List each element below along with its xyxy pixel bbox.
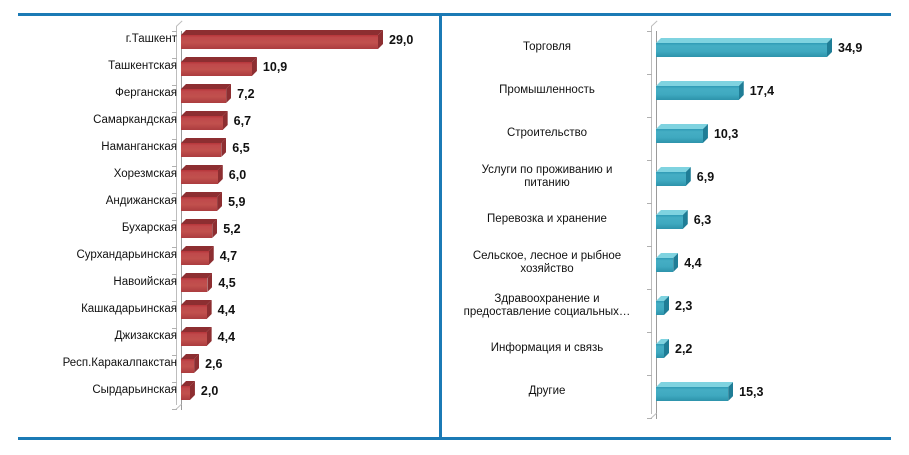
bar-body — [656, 215, 688, 229]
bar-3d[interactable] — [181, 30, 383, 49]
bar-3d[interactable] — [181, 111, 228, 130]
bar-3d[interactable] — [181, 381, 195, 400]
bar-value-label: 4,4 — [684, 256, 701, 270]
bar-chart-row: Сырдарьинская2,0 — [0, 377, 439, 404]
bar-chart-row: г.Ташкент29,0 — [0, 26, 439, 53]
bar-chart-sectors: Торговля34,9Промышленность17,4Строительс… — [442, 16, 909, 436]
bar-value-label: 2,3 — [675, 299, 692, 313]
axis-tick — [172, 409, 177, 410]
bar-body — [181, 35, 383, 49]
bar-chart-row: Перевозка и хранение6,3 — [442, 198, 909, 241]
category-label: Сырдарьинская — [0, 384, 177, 397]
bar-chart-row: Сельское, лесное и рыбное хозяйство4,4 — [442, 241, 909, 284]
bar-value-label: 4,4 — [218, 330, 235, 344]
bar-3d[interactable] — [181, 57, 257, 76]
category-label: Кашкадарьинская — [0, 303, 177, 316]
bar-body — [181, 305, 212, 319]
category-label: Другие — [442, 385, 652, 398]
category-label: г.Ташкент — [0, 33, 177, 46]
bar-front-face — [181, 386, 190, 400]
bar-value-label: 10,3 — [714, 127, 738, 141]
bar-body — [181, 386, 195, 400]
bar-body — [656, 258, 678, 272]
bar-3d[interactable] — [181, 165, 223, 184]
category-label: Торговля — [442, 41, 652, 54]
bar-3d[interactable] — [656, 38, 832, 57]
bar-body — [656, 387, 733, 401]
bar-front-face — [181, 305, 207, 319]
bar-body — [181, 170, 223, 184]
category-label: Строительство — [442, 127, 652, 140]
bar-value-label: 7,2 — [237, 87, 254, 101]
bar-front-face — [181, 278, 207, 292]
bar-body — [181, 62, 257, 76]
bar-3d[interactable] — [656, 124, 708, 143]
category-label: Здравоохранение и предоставление социаль… — [442, 293, 652, 319]
category-label: Джизакская — [0, 330, 177, 343]
bar-3d[interactable] — [656, 253, 678, 272]
bar-value-label: 5,9 — [228, 195, 245, 209]
bar-value-label: 6,9 — [697, 170, 714, 184]
bar-front-face — [181, 89, 226, 103]
bar-3d[interactable] — [656, 210, 688, 229]
bottom-divider-rule — [18, 437, 891, 440]
bar-value-label: 10,9 — [263, 60, 287, 74]
bar-body — [656, 172, 691, 186]
bar-3d[interactable] — [181, 300, 212, 319]
bar-front-face — [656, 344, 664, 358]
bar-body — [181, 89, 231, 103]
bar-value-label: 6,7 — [234, 114, 251, 128]
bar-value-label: 2,6 — [205, 357, 222, 371]
bar-front-face — [181, 143, 221, 157]
category-label: Бухарская — [0, 222, 177, 235]
axis-tick — [647, 418, 652, 419]
bar-3d[interactable] — [181, 246, 214, 265]
bar-chart-row: Респ.Каракалпакстан2,6 — [0, 350, 439, 377]
bar-front-face — [656, 86, 739, 100]
bar-front-face — [656, 215, 683, 229]
bar-body — [656, 129, 708, 143]
chart-panel-regions: г.Ташкент29,0Ташкентская10,9Ферганская7,… — [0, 16, 439, 436]
bar-front-face — [656, 43, 827, 57]
bar-value-label: 5,2 — [223, 222, 240, 236]
bar-chart-row: Навоийская4,5 — [0, 269, 439, 296]
bar-chart-regions: г.Ташкент29,0Ташкентская10,9Ферганская7,… — [0, 16, 439, 436]
bar-chart-row: Самаркандская6,7 — [0, 107, 439, 134]
bar-body — [181, 359, 199, 373]
bar-body — [181, 197, 222, 211]
bar-chart-row: Кашкадарьинская4,4 — [0, 296, 439, 323]
bar-body — [181, 278, 212, 292]
bar-chart-row: Промышленность17,4 — [442, 69, 909, 112]
bar-body — [181, 251, 214, 265]
bar-value-label: 4,5 — [218, 276, 235, 290]
bar-front-face — [181, 35, 378, 49]
bar-value-label: 4,7 — [220, 249, 237, 263]
bar-front-face — [181, 116, 223, 130]
bar-chart-row: Услуги по проживанию и питанию6,9 — [442, 155, 909, 198]
bar-front-face — [656, 301, 664, 315]
bar-value-label: 2,0 — [201, 384, 218, 398]
bar-3d[interactable] — [656, 167, 691, 186]
bar-body — [656, 301, 669, 315]
bar-body — [656, 344, 669, 358]
bar-3d[interactable] — [656, 339, 669, 358]
bar-front-face — [181, 359, 194, 373]
bar-front-face — [181, 197, 217, 211]
bar-value-label: 6,3 — [694, 213, 711, 227]
bar-value-label: 34,9 — [838, 41, 862, 55]
category-label: Респ.Каракалпакстан — [0, 357, 177, 370]
category-label: Промышленность — [442, 84, 652, 97]
bar-chart-row: Хорезмская6,0 — [0, 161, 439, 188]
bar-chart-row: Джизакская4,4 — [0, 323, 439, 350]
bar-chart-row: Строительство10,3 — [442, 112, 909, 155]
bar-front-face — [181, 62, 252, 76]
category-label: Ташкентская — [0, 60, 177, 73]
category-label: Наманганская — [0, 141, 177, 154]
bar-body — [181, 116, 228, 130]
bar-value-label: 17,4 — [750, 84, 774, 98]
bar-3d[interactable] — [181, 354, 199, 373]
bar-3d[interactable] — [181, 84, 231, 103]
bar-chart-row: Информация и связь2,2 — [442, 327, 909, 370]
bar-front-face — [181, 251, 209, 265]
category-label: Самаркандская — [0, 114, 177, 127]
category-label: Услуги по проживанию и питанию — [442, 164, 652, 190]
bar-value-label: 4,4 — [218, 303, 235, 317]
bar-chart-row: Ферганская7,2 — [0, 80, 439, 107]
bar-3d[interactable] — [181, 273, 212, 292]
bar-front-face — [656, 172, 686, 186]
bar-chart-row: Бухарская5,2 — [0, 215, 439, 242]
bar-front-face — [656, 387, 728, 401]
bar-body — [656, 86, 744, 100]
bar-front-face — [181, 170, 218, 184]
bar-body — [181, 224, 217, 238]
category-label: Хорезмская — [0, 168, 177, 181]
bar-value-label: 15,3 — [739, 385, 763, 399]
bar-front-face — [181, 332, 207, 346]
bar-front-face — [181, 224, 212, 238]
bar-3d[interactable] — [181, 138, 226, 157]
category-label: Навоийская — [0, 276, 177, 289]
bar-value-label: 29,0 — [389, 33, 413, 47]
bar-body — [181, 332, 212, 346]
bar-3d[interactable] — [656, 382, 733, 401]
category-label: Андижанская — [0, 195, 177, 208]
bar-3d[interactable] — [181, 327, 212, 346]
bar-chart-row: Наманганская6,5 — [0, 134, 439, 161]
bar-front-face — [656, 258, 673, 272]
bar-value-label: 2,2 — [675, 342, 692, 356]
category-label: Перевозка и хранение — [442, 213, 652, 226]
bar-chart-row: Ташкентская10,9 — [0, 53, 439, 80]
bar-body — [181, 143, 226, 157]
bar-chart-row: Андижанская5,9 — [0, 188, 439, 215]
bar-3d[interactable] — [656, 296, 669, 315]
category-label: Информация и связь — [442, 342, 652, 355]
category-label: Сельское, лесное и рыбное хозяйство — [442, 250, 652, 276]
bar-chart-row: Сурхандарьинская4,7 — [0, 242, 439, 269]
bar-chart-row: Торговля34,9 — [442, 26, 909, 69]
bar-3d[interactable] — [181, 192, 222, 211]
bar-3d[interactable] — [181, 219, 217, 238]
category-label: Сурхандарьинская — [0, 249, 177, 262]
bar-body — [656, 43, 832, 57]
category-label: Ферганская — [0, 87, 177, 100]
chart-panel-sectors: Торговля34,9Промышленность17,4Строительс… — [442, 16, 909, 436]
bar-value-label: 6,0 — [229, 168, 246, 182]
bar-3d[interactable] — [656, 81, 744, 100]
bar-value-label: 6,5 — [232, 141, 249, 155]
bar-chart-row: Здравоохранение и предоставление социаль… — [442, 284, 909, 327]
bar-chart-row: Другие15,3 — [442, 370, 909, 413]
bar-front-face — [656, 129, 703, 143]
